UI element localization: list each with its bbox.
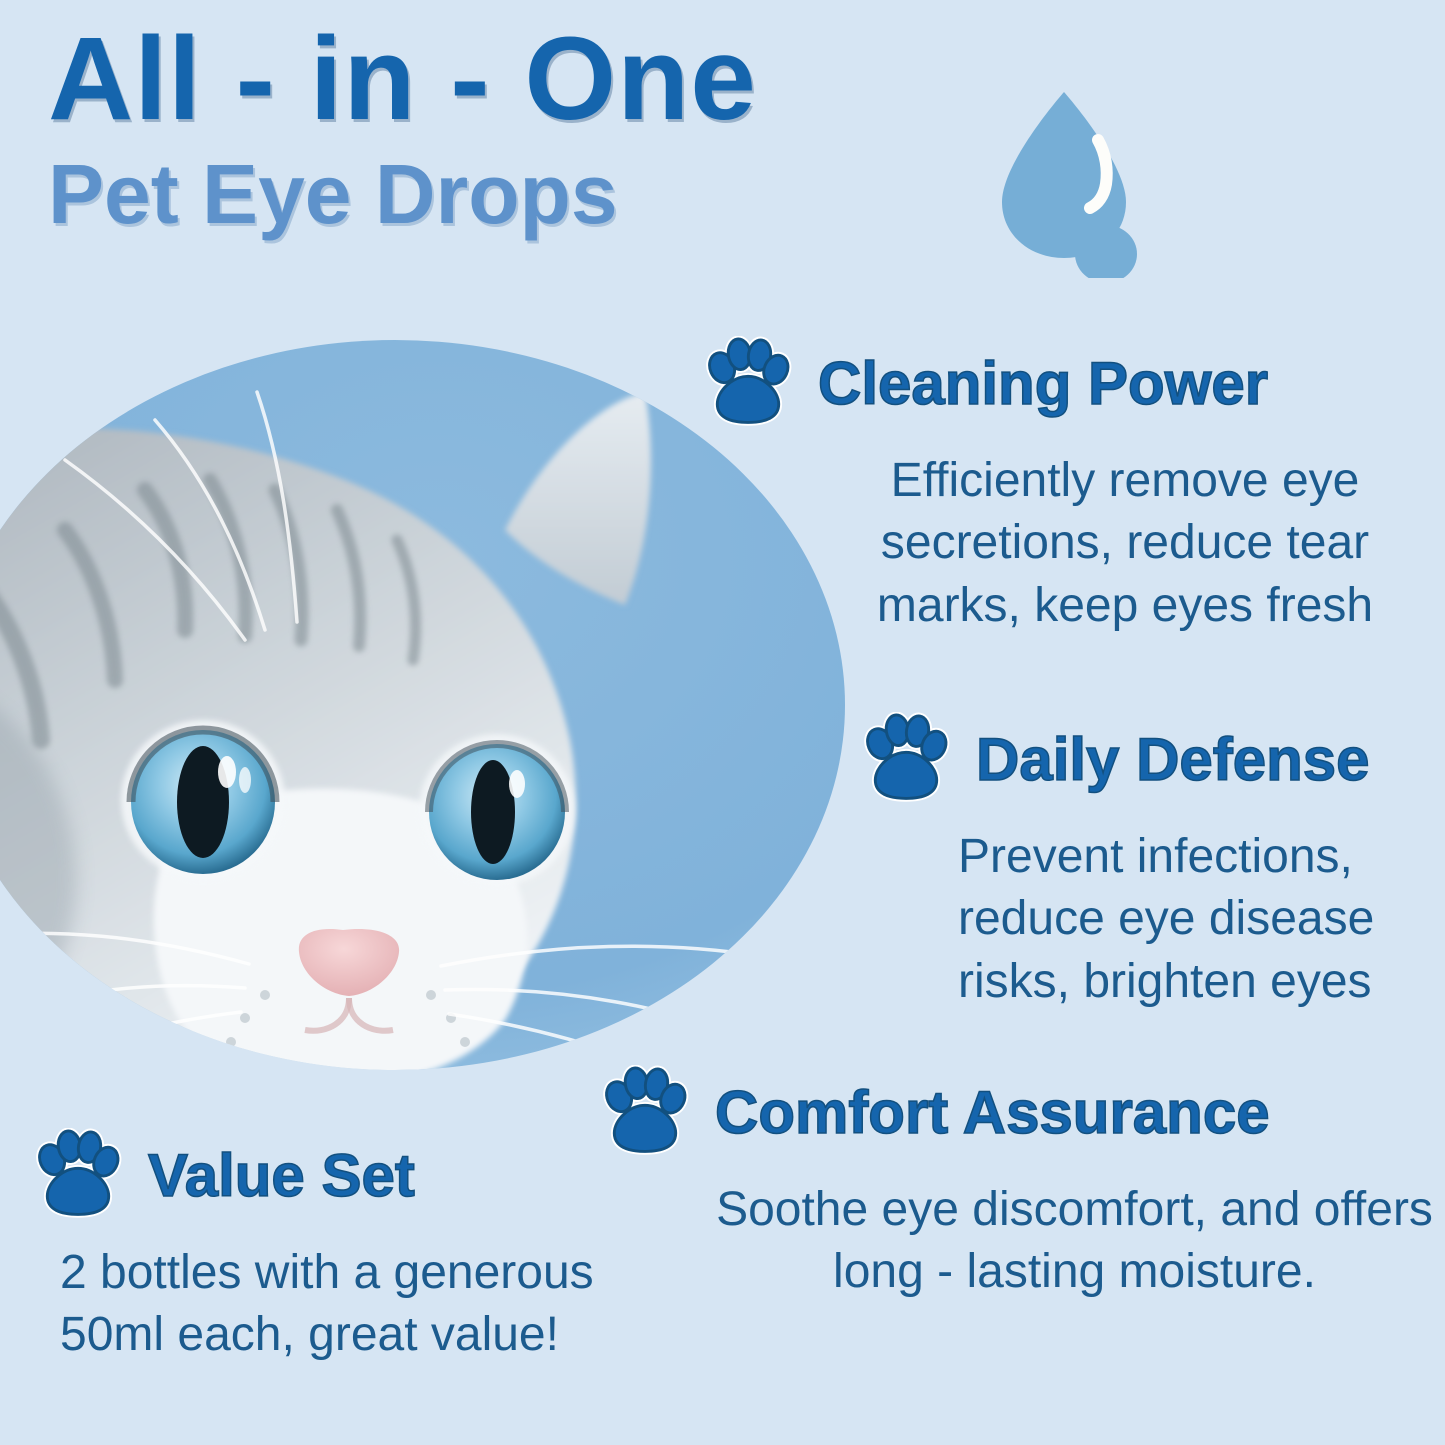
feature-title: Comfort Assurance — [715, 1083, 1270, 1143]
paw-print-icon — [30, 1128, 126, 1224]
feature-heading-row: Cleaning Power — [700, 336, 1400, 432]
page-subtitle: Pet Eye Drops — [48, 149, 1048, 240]
feature-title: Value Set — [148, 1146, 415, 1206]
feature-description: Efficiently remove eye secretions, reduc… — [700, 450, 1400, 637]
feature-title: Cleaning Power — [818, 354, 1268, 414]
paw-print-icon — [858, 712, 954, 808]
header: All - in - One Pet Eye Drops — [48, 16, 1048, 240]
feature-description: Prevent infections, reduce eye disease r… — [858, 826, 1438, 1013]
page-title: All - in - One — [48, 16, 1048, 143]
water-drop-icon — [986, 78, 1166, 278]
product-infographic: All - in - One Pet Eye Drops — [0, 0, 1445, 1445]
feature-heading-row: Daily Defense — [858, 712, 1438, 808]
feature-heading-row: Value Set — [30, 1128, 650, 1224]
feature-description: 2 bottles with a generous 50ml each, gre… — [30, 1242, 650, 1367]
feature-heading-row: Comfort Assurance — [597, 1065, 1442, 1161]
feature-title: Daily Defense — [976, 730, 1370, 790]
feature-description: Soothe eye discomfort, and offers long -… — [597, 1179, 1442, 1304]
feature-value-set: Value Set 2 bottles with a generous 50ml… — [30, 1128, 650, 1367]
feature-cleaning-power: Cleaning Power Efficiently remove eye se… — [700, 336, 1400, 637]
feature-comfort-assurance: Comfort Assurance Soothe eye discomfort,… — [597, 1065, 1442, 1304]
feature-daily-defense: Daily Defense Prevent infections, reduce… — [858, 712, 1438, 1013]
paw-print-icon — [700, 336, 796, 432]
